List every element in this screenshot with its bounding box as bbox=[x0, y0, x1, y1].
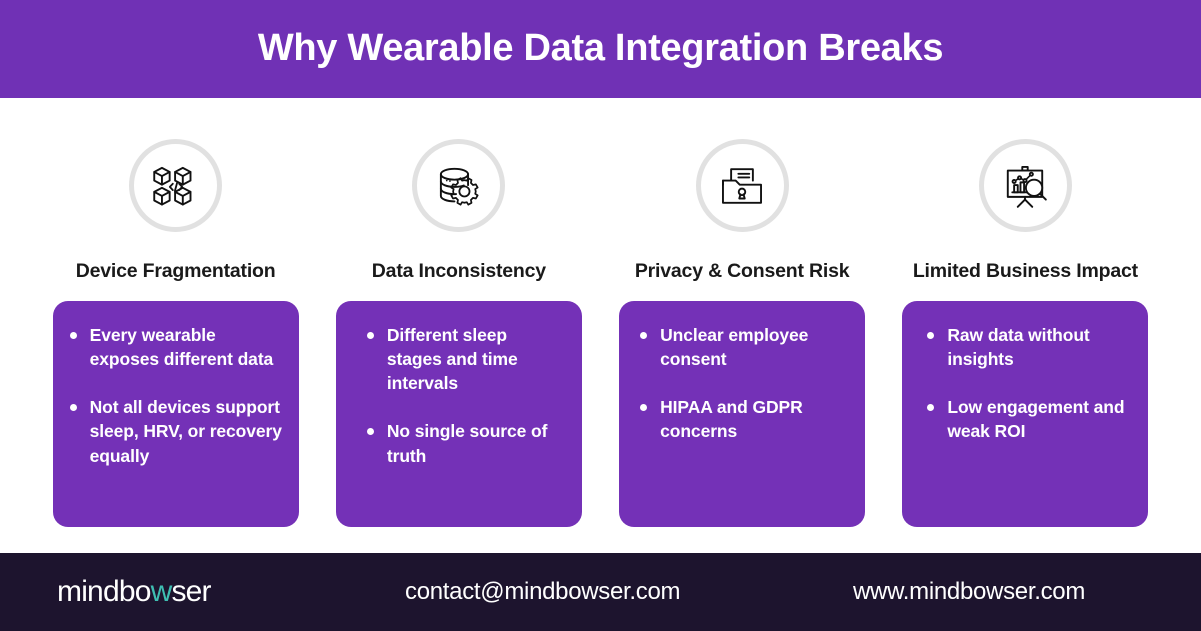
column-title: Data Inconsistency bbox=[372, 260, 546, 283]
footer-band: mindbowser contact@mindbowser.com www.mi… bbox=[0, 553, 1201, 631]
bullet-dot-icon bbox=[640, 404, 647, 411]
bullet-text: Raw data without insights bbox=[947, 325, 1089, 369]
cubes-code-icon bbox=[129, 139, 222, 232]
column-title: Privacy & Consent Risk bbox=[635, 260, 850, 283]
database-gear-icon bbox=[412, 139, 505, 232]
bullet-dot-icon bbox=[367, 332, 374, 339]
infographic-poster: Why Wearable Data Integration Breaks bbox=[0, 0, 1201, 631]
bullet-text: HIPAA and GDPR concerns bbox=[660, 397, 803, 441]
page-title: Why Wearable Data Integration Breaks bbox=[238, 28, 963, 70]
list-item: Different sleep stages and time interval… bbox=[364, 323, 566, 395]
bullet-dot-icon bbox=[640, 332, 647, 339]
presentation-chart-search-icon bbox=[979, 139, 1072, 232]
column-privacy-consent-risk: Privacy & Consent Risk Unclear employee … bbox=[601, 98, 884, 527]
column-data-inconsistency: Data Inconsistency Different sleep stage… bbox=[317, 98, 600, 527]
logo-accent-letter: w bbox=[151, 575, 172, 608]
list-item: HIPAA and GDPR concerns bbox=[637, 395, 849, 443]
columns-container: Device Fragmentation Every wearable expo… bbox=[0, 98, 1201, 553]
card-privacy-consent-risk: Unclear employee consent HIPAA and GDPR … bbox=[619, 301, 865, 527]
bullet-text: Low engagement and weak ROI bbox=[947, 397, 1124, 441]
card-limited-business-impact: Raw data without insights Low engagement… bbox=[902, 301, 1148, 527]
column-title: Limited Business Impact bbox=[913, 260, 1138, 283]
folder-lock-icon bbox=[696, 139, 789, 232]
logo-prefix: mindbo bbox=[57, 575, 151, 608]
list-item: Every wearable exposes different data bbox=[67, 323, 283, 371]
bullet-list: Raw data without insights Low engagement… bbox=[924, 323, 1132, 444]
brand-logo: mindbowser bbox=[57, 577, 211, 607]
bullet-dot-icon bbox=[927, 332, 934, 339]
column-limited-business-impact: Limited Business Impact Raw data without… bbox=[884, 98, 1167, 527]
bullet-text: No single source of truth bbox=[387, 421, 548, 465]
bullet-dot-icon bbox=[927, 404, 934, 411]
list-item: Not all devices support sleep, HRV, or r… bbox=[67, 395, 283, 467]
card-device-fragmentation: Every wearable exposes different data No… bbox=[53, 301, 299, 527]
contact-email[interactable]: contact@mindbowser.com bbox=[405, 578, 680, 606]
column-title: Device Fragmentation bbox=[76, 260, 276, 283]
website-url[interactable]: www.mindbowser.com bbox=[853, 578, 1085, 606]
list-item: Low engagement and weak ROI bbox=[924, 395, 1132, 443]
bullet-text: Not all devices support sleep, HRV, or r… bbox=[90, 397, 282, 465]
card-data-inconsistency: Different sleep stages and time interval… bbox=[336, 301, 582, 527]
bullet-list: Unclear employee consent HIPAA and GDPR … bbox=[637, 323, 849, 444]
column-device-fragmentation: Device Fragmentation Every wearable expo… bbox=[34, 98, 317, 527]
list-item: Unclear employee consent bbox=[637, 323, 849, 371]
header-band: Why Wearable Data Integration Breaks bbox=[0, 0, 1201, 98]
list-item: No single source of truth bbox=[364, 419, 566, 467]
bullet-text: Different sleep stages and time interval… bbox=[387, 325, 518, 393]
bullet-dot-icon bbox=[367, 428, 374, 435]
bullet-dot-icon bbox=[70, 332, 77, 339]
bullet-text: Unclear employee consent bbox=[660, 325, 808, 369]
list-item: Raw data without insights bbox=[924, 323, 1132, 371]
bullet-dot-icon bbox=[70, 404, 77, 411]
bullet-list: Every wearable exposes different data No… bbox=[67, 323, 283, 468]
bullet-text: Every wearable exposes different data bbox=[90, 325, 274, 369]
bullet-list: Different sleep stages and time interval… bbox=[364, 323, 566, 468]
logo-suffix: ser bbox=[171, 575, 210, 608]
